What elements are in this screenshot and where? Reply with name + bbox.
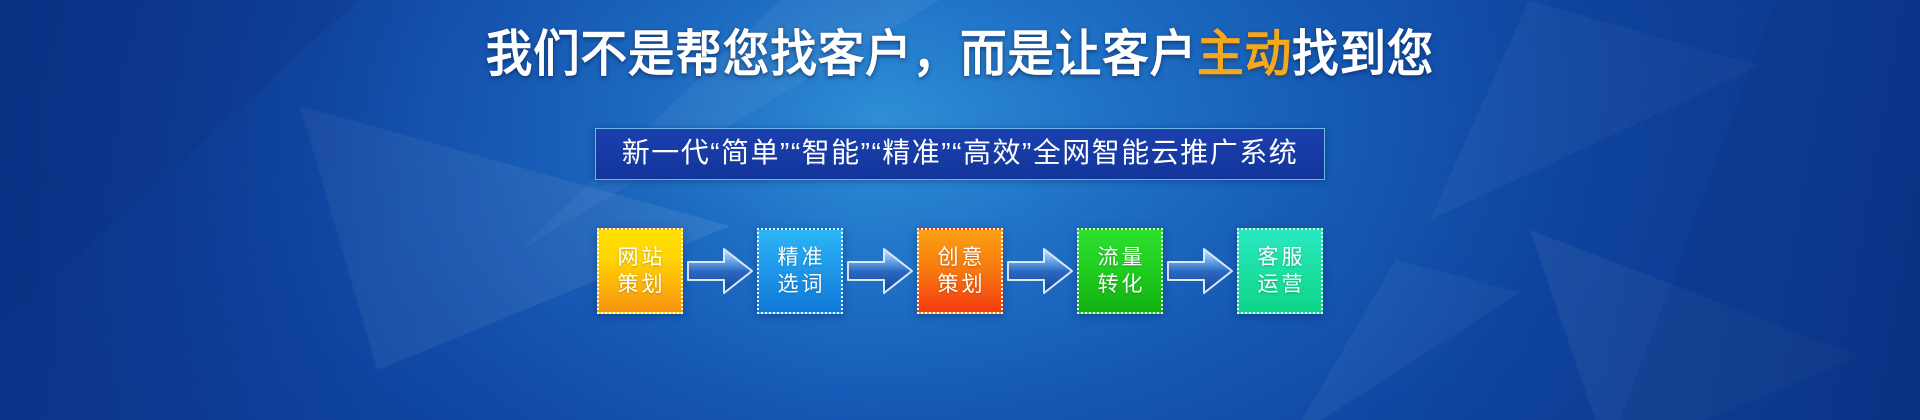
subtitle-bar: 新一代“简单”“智能”“精准”“高效”全网智能云推广系统 (595, 128, 1326, 180)
headline-text-before: 我们不是帮您找客户，而是让客户 (486, 26, 1197, 82)
flow-step-line1: 客服 (1255, 244, 1306, 271)
arrow-right-icon-3 (1003, 228, 1077, 314)
flow-step-line1: 网站 (615, 244, 666, 271)
process-flow: 网站 策划 精准 选词 (0, 228, 1920, 314)
flow-step-service-operation[interactable]: 客服 运营 (1237, 228, 1323, 314)
arrow-right-icon-1 (683, 228, 757, 314)
flow-step-line1: 创意 (935, 244, 986, 271)
flow-step-traffic-conversion[interactable]: 流量 转化 (1077, 228, 1163, 314)
flow-step-line2: 策划 (615, 271, 666, 298)
headline: 我们不是帮您找客户，而是让客户主动找到您 (67, 24, 1853, 84)
flow-step-line1: 流量 (1095, 244, 1146, 271)
flow-step-line2: 转化 (1095, 271, 1146, 298)
flow-step-line2: 策划 (935, 271, 986, 298)
flow-step-creative-planning[interactable]: 创意 策划 (917, 228, 1003, 314)
promo-banner: 我们不是帮您找客户，而是让客户主动找到您 新一代“简单”“智能”“精准”“高效”… (0, 0, 1920, 420)
arrow-right-icon-4 (1163, 228, 1237, 314)
headline-highlight: 主动 (1197, 26, 1292, 82)
flow-step-precise-keywords[interactable]: 精准 选词 (757, 228, 843, 314)
headline-text-after: 找到您 (1292, 26, 1434, 82)
subtitle-bar-wrapper: 新一代“简单”“智能”“精准”“高效”全网智能云推广系统 (0, 128, 1920, 180)
flow-step-line2: 运营 (1255, 271, 1306, 298)
flow-step-line2: 选词 (775, 271, 826, 298)
flow-step-website-planning[interactable]: 网站 策划 (597, 228, 683, 314)
arrow-right-icon-2 (843, 228, 917, 314)
flow-step-line1: 精准 (775, 244, 826, 271)
